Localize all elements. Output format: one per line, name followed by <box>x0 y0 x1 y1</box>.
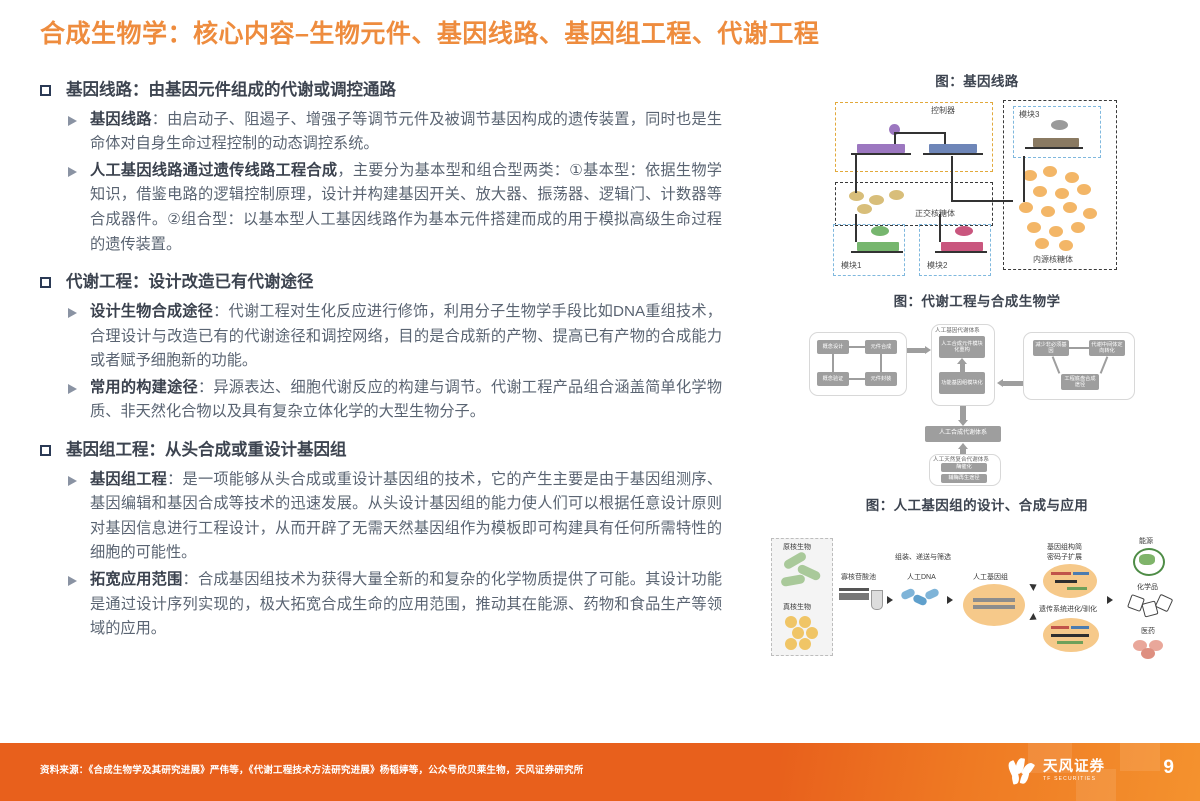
bullet-point: 基因组工程：是一项能够从头合成或重设计基因组的技术，它的产生主要是由于基因组测序… <box>40 468 770 567</box>
figure-image: 原核生物 真核生物 寡核苷酸池 组装、递送与筛选 人工DNA <box>767 520 1187 680</box>
square-bullet-icon <box>40 445 51 456</box>
connector <box>855 153 857 193</box>
bullet-text: 基因组工程：是一项能够从头合成或重设计基因组的技术，它的产生主要是由于基因组测序… <box>90 468 722 567</box>
bullet-body: ：合成基因组技术为获得大量全新的和复杂的化学物质提供了可能。其设计功能是通过设计… <box>90 571 722 637</box>
arrow-bullet-icon <box>68 167 77 177</box>
dna-helix-icon <box>924 587 940 600</box>
label-module2: 模块2 <box>927 260 947 271</box>
ribosome-icon <box>1041 206 1055 217</box>
bullet-lead: 设计生物合成途径 <box>90 303 213 320</box>
arrow-right-icon <box>947 596 953 604</box>
ribosome-icon <box>869 195 884 205</box>
bullet-point: 人工基因线路通过遗传线路工程合成，主要分为基本型和组合型两类：①基本型：依据生物… <box>40 159 770 258</box>
label-mid-group: 人工基因代谢体系 <box>935 326 980 334</box>
bullet-body: ：是一项能够从头合成或重设计基因组的技术，它的产生主要是由于基因组测序、基因编辑… <box>90 471 722 562</box>
controller-region <box>835 102 993 172</box>
genome-strand <box>973 605 1015 609</box>
tube-icon <box>871 590 883 610</box>
gene-bar-pink <box>941 242 983 251</box>
chip-icon <box>839 593 869 600</box>
flow-box: 酶催化 <box>941 463 987 472</box>
arrow-branch-up-icon <box>1029 581 1038 591</box>
connector <box>849 378 865 380</box>
ribosome-icon <box>1019 202 1033 213</box>
label-prokaryote: 原核生物 <box>783 542 811 552</box>
connector <box>1069 347 1089 349</box>
gene-segment <box>1055 580 1077 583</box>
arrow-up-icon <box>957 358 967 364</box>
connector <box>951 156 953 202</box>
chip-icon <box>839 588 869 591</box>
bullet-lead: 基因组工程 <box>90 471 167 488</box>
protein-green-icon <box>871 226 889 236</box>
label-evolution: 遗传系统进化/驯化 <box>1039 604 1097 614</box>
connector <box>939 214 941 242</box>
flow-box: 概念验证 <box>817 372 849 386</box>
connector <box>855 214 857 242</box>
gene-segment <box>1073 572 1089 575</box>
content-column: 基因线路：由基因元件组成的代谢或调控通路 基因线路：由启动子、阻遏子、增强子等调… <box>40 78 770 728</box>
gene-bar-green <box>857 242 899 251</box>
arrow-bullet-icon <box>68 116 77 126</box>
arrow-branch-down-icon <box>1029 613 1038 623</box>
protein-structure-icon <box>1141 648 1155 659</box>
connector <box>1023 156 1025 202</box>
bullet-lead: 人工基因线路通过遗传线路工程合成 <box>90 162 337 179</box>
dna-strand <box>923 153 983 155</box>
connector <box>849 346 865 348</box>
footer-square <box>1120 743 1160 771</box>
bullet-point: 设计生物合成途径：代谢工程对生化反应进行修饰，利用分子生物学手段比如DNA重组技… <box>40 300 770 374</box>
bullet-lead: 基因线路 <box>90 111 152 128</box>
label-endogenous-ribosome: 内源核糖体 <box>1033 254 1073 265</box>
flow-box: 功能基因组模块化 <box>939 372 985 394</box>
protein-gray-icon <box>1051 120 1068 130</box>
arrow-bullet-icon <box>68 576 77 586</box>
ribosome-icon <box>1071 222 1085 233</box>
orthogonal-region <box>835 182 993 226</box>
ribosome-icon <box>889 190 904 200</box>
connector <box>1003 381 1023 386</box>
protein-pink-icon <box>955 226 973 236</box>
connector <box>894 134 896 144</box>
slide-root: 合成生物学：核心内容–生物元件、基因线路、基因组工程、代谢工程 基因线路：由基因… <box>0 0 1200 801</box>
figure-image: 概念设计 元件合成 概念验证 元件封装 人工基因代谢体系 人工合成元件模块化重构… <box>807 316 1147 486</box>
slide-title-bar: 合成生物学：核心内容–生物元件、基因线路、基因组工程、代谢工程 <box>0 14 1200 60</box>
ribosome-icon <box>1065 172 1079 183</box>
bullet-text: 人工基因线路通过遗传线路工程合成，主要分为基本型和组合型两类：①基本型：依据生物… <box>90 159 722 258</box>
section-heading-row: 代谢工程：设计改造已有代谢途径 <box>40 270 770 296</box>
arrow-right-icon <box>887 596 893 604</box>
ribosome-icon <box>857 204 872 214</box>
leaf-icon <box>1139 554 1155 565</box>
bullet-text: 设计生物合成途径：代谢工程对生化反应进行修饰，利用分子生物学手段比如DNA重组技… <box>90 300 722 374</box>
arrow-bullet-icon <box>68 308 77 318</box>
gene-segment <box>1071 626 1089 629</box>
section-block: 代谢工程：设计改造已有代谢途径 设计生物合成途径：代谢工程对生化反应进行修饰，利… <box>40 270 770 425</box>
label-assembly: 组装、递送与筛选 <box>895 552 951 562</box>
figure-column: 图：基因线路 控制器 模块3 内源核糖体 正交核糖体 模块1 模块2 <box>762 70 1192 688</box>
gene-bar-purple <box>857 144 905 153</box>
dna-strand <box>851 251 903 253</box>
square-bullet-icon <box>40 277 51 288</box>
section-heading: 基因组工程：从头合成或重设计基因组 <box>66 438 347 464</box>
dna-strand <box>935 251 987 253</box>
company-logo: 天风证券 TF SECURITIES <box>1008 758 1105 784</box>
yeast-icon <box>806 627 818 639</box>
flow-box: 元件合成 <box>865 340 897 354</box>
figure-image: 控制器 模块3 内源核糖体 正交核糖体 模块1 模块2 <box>827 96 1127 282</box>
bullet-point: 基因线路：由启动子、阻遏子、增强子等调节元件及被调节基因构成的遗传装置，同时也是… <box>40 108 770 157</box>
yeast-icon <box>799 616 811 628</box>
label-chemicals: 化学品 <box>1137 582 1158 592</box>
connector <box>832 354 834 372</box>
figure-artificial-genome: 图：人工基因组的设计、合成与应用 原核生物 真核生物 寡核苷酸池 <box>762 494 1192 680</box>
ribosome-icon <box>1077 184 1091 195</box>
logo-name-en: TF SECURITIES <box>1043 777 1105 782</box>
figure-caption: 图：基因线路 <box>762 70 1192 90</box>
ribosome-icon <box>1049 226 1063 237</box>
figure-caption: 图：人工基因组的设计、合成与应用 <box>762 494 1192 514</box>
label-energy: 能源 <box>1139 536 1153 546</box>
flow-box: 概念设计 <box>817 340 849 354</box>
section-heading: 基因线路：由基因元件组成的代谢或调控通路 <box>66 78 396 104</box>
genome-strand <box>973 598 1015 602</box>
logo-text: 天风证券 TF SECURITIES <box>1043 760 1105 782</box>
ribosome-icon <box>1033 186 1047 197</box>
gene-segment <box>1051 634 1089 637</box>
connector <box>894 132 946 134</box>
logo-mark-icon <box>1008 758 1036 784</box>
bullet-point: 常用的构建途径：异源表达、细胞代谢反应的构建与调节。代谢工程产品组合涵盖简单化学… <box>40 376 770 425</box>
square-bullet-icon <box>40 85 51 96</box>
flow-box: 元件封装 <box>865 372 897 386</box>
figure-metabolic-engineering: 图：代谢工程与合成生物学 概念设计 元件合成 概念验证 元件封装 人工基因代谢体… <box>762 290 1192 486</box>
ribosome-icon <box>1083 208 1097 219</box>
bullet-text: 基因线路：由启动子、阻遏子、增强子等调节元件及被调节基因构成的遗传装置，同时也是… <box>90 108 722 157</box>
label-module1: 模块1 <box>841 260 861 271</box>
label-genome-refactor: 基因组构简 密码子扩展 <box>1047 542 1082 562</box>
logo-name-cn: 天风证券 <box>1043 760 1105 775</box>
label-oligo-pool: 寡核苷酸池 <box>841 572 876 582</box>
connector <box>951 200 1013 202</box>
gene-segment <box>1051 626 1069 629</box>
ribosome-icon <box>1055 188 1069 199</box>
yeast-icon <box>799 638 811 650</box>
bullet-point: 拓宽应用范围：合成基因组技术为获得大量全新的和复杂的化学物质提供了可能。其设计功… <box>40 568 770 642</box>
ribosome-icon <box>1035 238 1049 249</box>
label-artificial-dna: 人工DNA <box>907 572 936 582</box>
ribosome-icon <box>1027 222 1041 233</box>
section-block: 基因线路：由基因元件组成的代谢或调控通路 基因线路：由启动子、阻遏子、增强子等调… <box>40 78 770 257</box>
section-heading-row: 基因线路：由基因元件组成的代谢或调控通路 <box>40 78 770 104</box>
connector <box>907 348 925 353</box>
gene-segment <box>1067 587 1087 590</box>
flow-box: 代谢中间体定向转化 <box>1089 340 1125 356</box>
arrow-up-icon <box>958 443 968 449</box>
dna-strand <box>851 153 911 155</box>
arrow-left-icon <box>997 379 1003 387</box>
figure-gene-circuit: 图：基因线路 控制器 模块3 内源核糖体 正交核糖体 模块1 模块2 <box>762 70 1192 282</box>
label-orthogonal-ribosome: 正交核糖体 <box>915 208 955 219</box>
flow-box: 减少非必须基因 <box>1033 340 1069 356</box>
arrow-right-icon <box>1107 596 1113 604</box>
flow-box: 辅酶再生途径 <box>941 474 987 483</box>
bullet-text: 拓宽应用范围：合成基因组技术为获得大量全新的和复杂的化学物质提供了可能。其设计功… <box>90 568 722 642</box>
ribosome-icon <box>1059 240 1073 251</box>
ribosome-icon <box>1023 170 1037 181</box>
gene-segment <box>1057 641 1083 644</box>
yeast-icon <box>792 627 804 639</box>
section-block: 基因组工程：从头合成或重设计基因组 基因组工程：是一项能够从头合成或重设计基因组… <box>40 438 770 642</box>
bullet-lead: 常用的构建途径 <box>90 379 198 396</box>
gene-bar-brown <box>1033 138 1079 147</box>
source-note: 资料来源：《合成生物学及其研究进展》严伟等，《代谢工程技术方法研究进展》杨韬婷等… <box>40 762 583 776</box>
dna-strand <box>1025 147 1083 149</box>
connector <box>944 132 946 144</box>
gene-segment <box>1051 572 1071 575</box>
label-medicine: 医药 <box>1141 626 1155 636</box>
section-heading: 代谢工程：设计改造已有代谢途径 <box>66 270 314 296</box>
flow-box-result: 人工合成代谢体系 <box>925 426 1001 442</box>
label-artificial-genome: 人工基因组 <box>973 572 1008 582</box>
ribosome-icon <box>1063 202 1077 213</box>
gene-bar-blue <box>929 144 977 153</box>
title-divider <box>0 62 1200 64</box>
arrow-bullet-icon <box>68 476 77 486</box>
flow-box: 人工合成元件模块化重构 <box>939 336 985 358</box>
page-title: 合成生物学：核心内容–生物元件、基因线路、基因组工程、代谢工程 <box>40 14 819 50</box>
ribosome-icon <box>1043 166 1057 177</box>
connector <box>880 354 882 372</box>
label-bottom-group: 人工天然复合代谢体系 <box>933 455 989 463</box>
page-number: 9 <box>1163 757 1174 779</box>
bullet-lead: 拓宽应用范围 <box>90 571 183 588</box>
label-eukaryote: 真核生物 <box>783 602 811 612</box>
section-heading-row: 基因组工程：从头合成或重设计基因组 <box>40 438 770 464</box>
label-controller: 控制器 <box>931 105 955 116</box>
yeast-icon <box>785 638 797 650</box>
flow-box: 工程底盘合成途径 <box>1061 374 1099 390</box>
yeast-icon <box>785 616 797 628</box>
arrow-bullet-icon <box>68 384 77 394</box>
bullet-text: 常用的构建途径：异源表达、细胞代谢反应的构建与调节。代谢工程产品组合涵盖简单化学… <box>90 376 722 425</box>
slide-footer: 资料来源：《合成生物学及其研究进展》严伟等，《代谢工程技术方法研究进展》杨韬婷等… <box>0 743 1200 801</box>
connector <box>960 406 966 420</box>
figure-caption: 图：代谢工程与合成生物学 <box>762 290 1192 310</box>
bullet-body: ：由启动子、阻遏子、增强子等调节元件及被调节基因构成的遗传装置，同时也是生命体对… <box>90 111 722 153</box>
